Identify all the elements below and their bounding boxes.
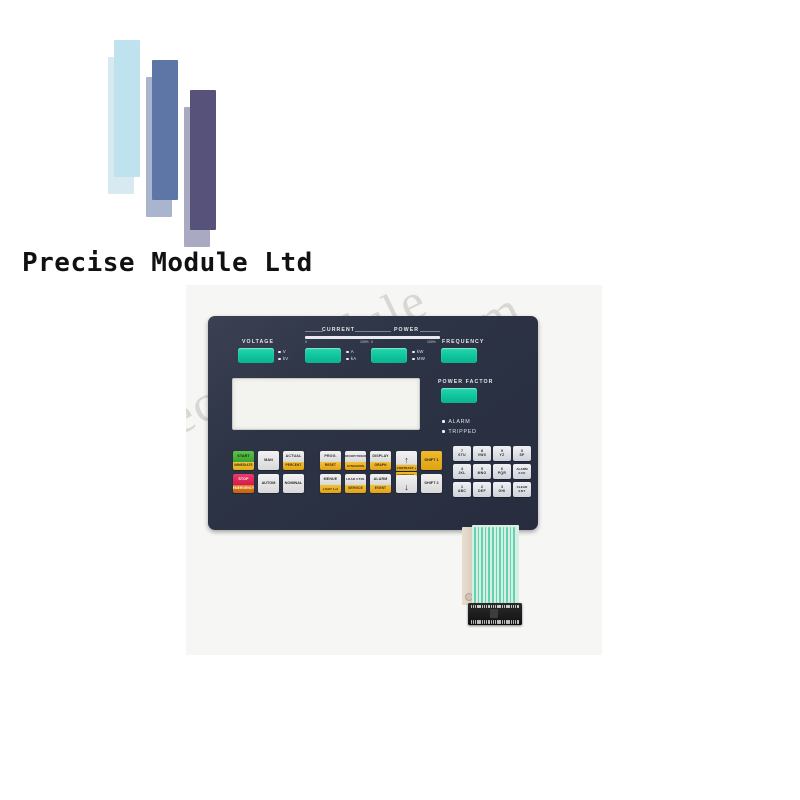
key-alarm-label: ALARM [370, 474, 391, 485]
key-alarm-sublabel: EVENT [370, 485, 391, 493]
key-load-ctrl-sublabel: SERVICE [345, 485, 366, 493]
key-load-ctrl-label: LOAD CTRL [345, 474, 366, 485]
status-alarm-label: ALARM [448, 419, 470, 425]
connector-pin [506, 605, 507, 609]
key-prog[interactable]: PROG. RESET [320, 451, 341, 470]
numkey-alarm-ack-letters: ACK [518, 472, 525, 475]
numkey-alarm-ack[interactable]: ALARM ACK [513, 464, 531, 479]
connector-pin [471, 605, 472, 609]
connector-pin [479, 620, 480, 624]
key-menue-sublabel: LIGHT 1+2 [320, 485, 341, 493]
power-scale-max: 100% [427, 340, 436, 344]
numkey-5[interactable]: 5 MNO [473, 464, 491, 479]
power-factor-label: POWER FACTOR [438, 379, 493, 385]
connector-pin [477, 620, 478, 624]
voltage-unit-kv-label: kV [283, 356, 289, 361]
status-tripped: TRIPPED [442, 429, 477, 435]
connector-pin [486, 620, 487, 624]
numkey-6[interactable]: 6 PQR [493, 464, 511, 479]
key-stop-label: STOP [233, 474, 254, 485]
current-unit-a-label: A [351, 349, 354, 354]
connector-pin [506, 620, 507, 624]
connector-pin [484, 620, 485, 624]
connector-pin [511, 620, 512, 624]
status-alarm: ALARM [442, 419, 470, 425]
logo-bar-3 [190, 90, 216, 230]
power-unit-kw-label: kW [417, 349, 424, 354]
key-actual-sublabel: PERCENT [283, 462, 304, 470]
connector-pin [495, 605, 496, 609]
key-shift-1[interactable]: SHIFT 1 [421, 451, 442, 470]
power-unit-mw-label: MW [417, 356, 425, 361]
power-factor-key[interactable] [441, 388, 477, 403]
numkey-1-letters: ABC [458, 490, 466, 494]
ribbon-trace [503, 527, 505, 603]
logo-bar-2 [152, 60, 178, 200]
voltage-unit-v-label: V [283, 349, 286, 354]
connector-pin [513, 605, 514, 609]
connector-pin [488, 605, 489, 609]
numkey-7-letters: STU [458, 454, 466, 458]
connector-pin [508, 620, 509, 624]
current-unit-a: A [346, 349, 354, 354]
current-label: CURRENT [322, 327, 355, 333]
contrast-plus-label: CONTRAST + [396, 465, 417, 471]
connector-pin [513, 620, 514, 624]
key-menue[interactable]: MENUE LIGHT 1+2 [320, 474, 341, 493]
connector-pin [486, 605, 487, 609]
numkey-1[interactable]: 1 ABC [453, 482, 471, 497]
key-stop[interactable]: STOP EMERGENCY [233, 474, 254, 493]
arrow-down-icon: ↓ [404, 483, 409, 492]
numkey-2[interactable]: 2 DEF [473, 482, 491, 497]
key-droop-trend[interactable]: DROOP/TREND SYNCHRON [345, 451, 366, 470]
connector-pin [499, 605, 500, 609]
ribbon-trace [488, 527, 490, 603]
ribbon-cable-tail [462, 525, 522, 625]
current-scale-max: 100% [360, 340, 369, 344]
connector-pin [511, 605, 512, 609]
key-display-sublabel: GRAPH [370, 462, 391, 470]
connector-pin [499, 620, 500, 624]
numkey-8-letters: VWX [478, 454, 487, 458]
logo-bar-1 [114, 40, 140, 177]
connector-pin [473, 605, 474, 609]
numkey-3-letters: GHI [499, 490, 506, 494]
ribbon-trace [496, 527, 498, 603]
connector-pin [497, 620, 498, 624]
status-tripped-label: TRIPPED [448, 429, 476, 435]
key-display-label: DISPLAY [370, 451, 391, 462]
connector-pin [491, 620, 492, 624]
key-stop-sublabel: EMERGENCY [233, 485, 254, 493]
company-name: Precise Module Ltd [22, 248, 313, 278]
key-start-sublabel: IMMEDIATE [233, 462, 254, 470]
numkey-6-letters: PQR [498, 472, 506, 476]
ribbon-flex-circuit [472, 525, 519, 605]
connector-pin [502, 620, 503, 624]
ribbon-trace [485, 527, 487, 603]
connector-pin [475, 620, 476, 624]
connector-pin [493, 605, 494, 609]
numkey-4[interactable]: 4 JKL [453, 464, 471, 479]
key-alarm[interactable]: ALARM EVENT [370, 474, 391, 493]
connector-pin [515, 605, 516, 609]
ribbon-trace [478, 527, 480, 603]
power-scale-bar [371, 336, 440, 339]
connector-pin [471, 620, 472, 624]
connector-pin [515, 620, 516, 624]
key-autom[interactable]: AUTOM [258, 474, 279, 493]
voltage-key[interactable] [238, 348, 274, 363]
ribbon-trace [499, 527, 501, 603]
power-key[interactable] [371, 348, 407, 363]
key-contrast-down[interactable]: ↓ [396, 475, 417, 493]
key-load-ctrl[interactable]: LOAD CTRL SERVICE [345, 474, 366, 493]
numkey-8[interactable]: 8 VWX [473, 446, 491, 461]
key-actual-label: ACTUAL [283, 451, 304, 462]
key-menue-label: MENUE [320, 474, 341, 485]
connector-pin [491, 605, 492, 609]
connector-pin [477, 605, 478, 609]
voltage-unit-kv: kV [278, 356, 289, 361]
current-unit-ka: kA [346, 356, 357, 361]
current-scale-min: 0 [305, 340, 307, 344]
connector-pin [504, 605, 505, 609]
numkey-7[interactable]: 7 STU [453, 446, 471, 461]
numkey-0[interactable]: 0 SP [513, 446, 531, 461]
connector-pin [504, 620, 505, 624]
current-unit-ka-label: kA [351, 356, 357, 361]
key-nominal[interactable]: NOMINAL [283, 474, 304, 493]
ribbon-trace [474, 527, 476, 603]
numkey-9-letters: YZ [500, 454, 505, 458]
current-key[interactable] [305, 348, 341, 363]
ribbon-trace [481, 527, 483, 603]
connector-pin [484, 605, 485, 609]
numkey-clear[interactable]: CLEAR ENT [513, 482, 531, 497]
numkey-2-letters: DEF [478, 490, 486, 494]
key-start-label: START [233, 451, 254, 462]
product-photo: precisemodule .com VOLTAGE V kV CURRENT … [186, 285, 602, 655]
ribbon-connector [468, 603, 522, 625]
key-droop-trend-label: DROOP/TREND [345, 451, 366, 462]
connector-pin [517, 605, 518, 609]
membrane-keypad-panel: VOLTAGE V kV CURRENT 0 100% A kA POWER 0… [208, 316, 538, 530]
connector-pin [473, 620, 474, 624]
key-prog-label: PROG. [320, 451, 341, 462]
connector-pin [493, 620, 494, 624]
connector-pin [479, 605, 480, 609]
numkey-9[interactable]: 9 YZ [493, 446, 511, 461]
voltage-label: VOLTAGE [242, 339, 274, 345]
key-actual[interactable]: ACTUAL PERCENT [283, 451, 304, 470]
frequency-label: FREQUENCY [442, 339, 484, 345]
connector-pin [517, 620, 518, 624]
power-label: POWER [394, 327, 419, 333]
ribbon-trace [513, 527, 515, 603]
numkey-4-letters: JKL [458, 472, 465, 476]
key-start[interactable]: START IMMEDIATE [233, 451, 254, 470]
key-prog-sublabel: RESET [320, 462, 341, 470]
key-droop-trend-sublabel: SYNCHRON [345, 462, 366, 470]
connector-pin [497, 605, 498, 609]
ribbon-trace [492, 527, 494, 603]
current-scale-bar [305, 336, 373, 339]
ribbon-trace [506, 527, 508, 603]
ribbon-trace [510, 527, 512, 603]
power-unit-mw: MW [412, 356, 425, 361]
power-scale-min: 0 [371, 340, 373, 344]
voltage-unit-v: V [278, 349, 286, 354]
numkey-clear-letters: ENT [519, 490, 526, 493]
company-logo [108, 32, 308, 232]
connector-pin [482, 620, 483, 624]
numkey-0-letters: SP [519, 454, 524, 458]
key-man[interactable]: MAN [258, 451, 279, 470]
connector-pin [488, 620, 489, 624]
key-shift-2[interactable]: SHIFT 2 [421, 474, 442, 493]
lcd-display [232, 378, 420, 430]
connector-notch [490, 609, 498, 618]
frequency-key[interactable] [441, 348, 477, 363]
key-display[interactable]: DISPLAY GRAPH [370, 451, 391, 470]
connector-pin [495, 620, 496, 624]
connector-pin [482, 605, 483, 609]
arrow-up-icon: ↑ [404, 456, 409, 465]
connector-pin [502, 605, 503, 609]
connector-pin [475, 605, 476, 609]
connector-pin [508, 605, 509, 609]
numkey-3[interactable]: 3 GHI [493, 482, 511, 497]
numkey-5-letters: MNO [478, 472, 487, 476]
power-unit-kw: kW [412, 349, 424, 354]
